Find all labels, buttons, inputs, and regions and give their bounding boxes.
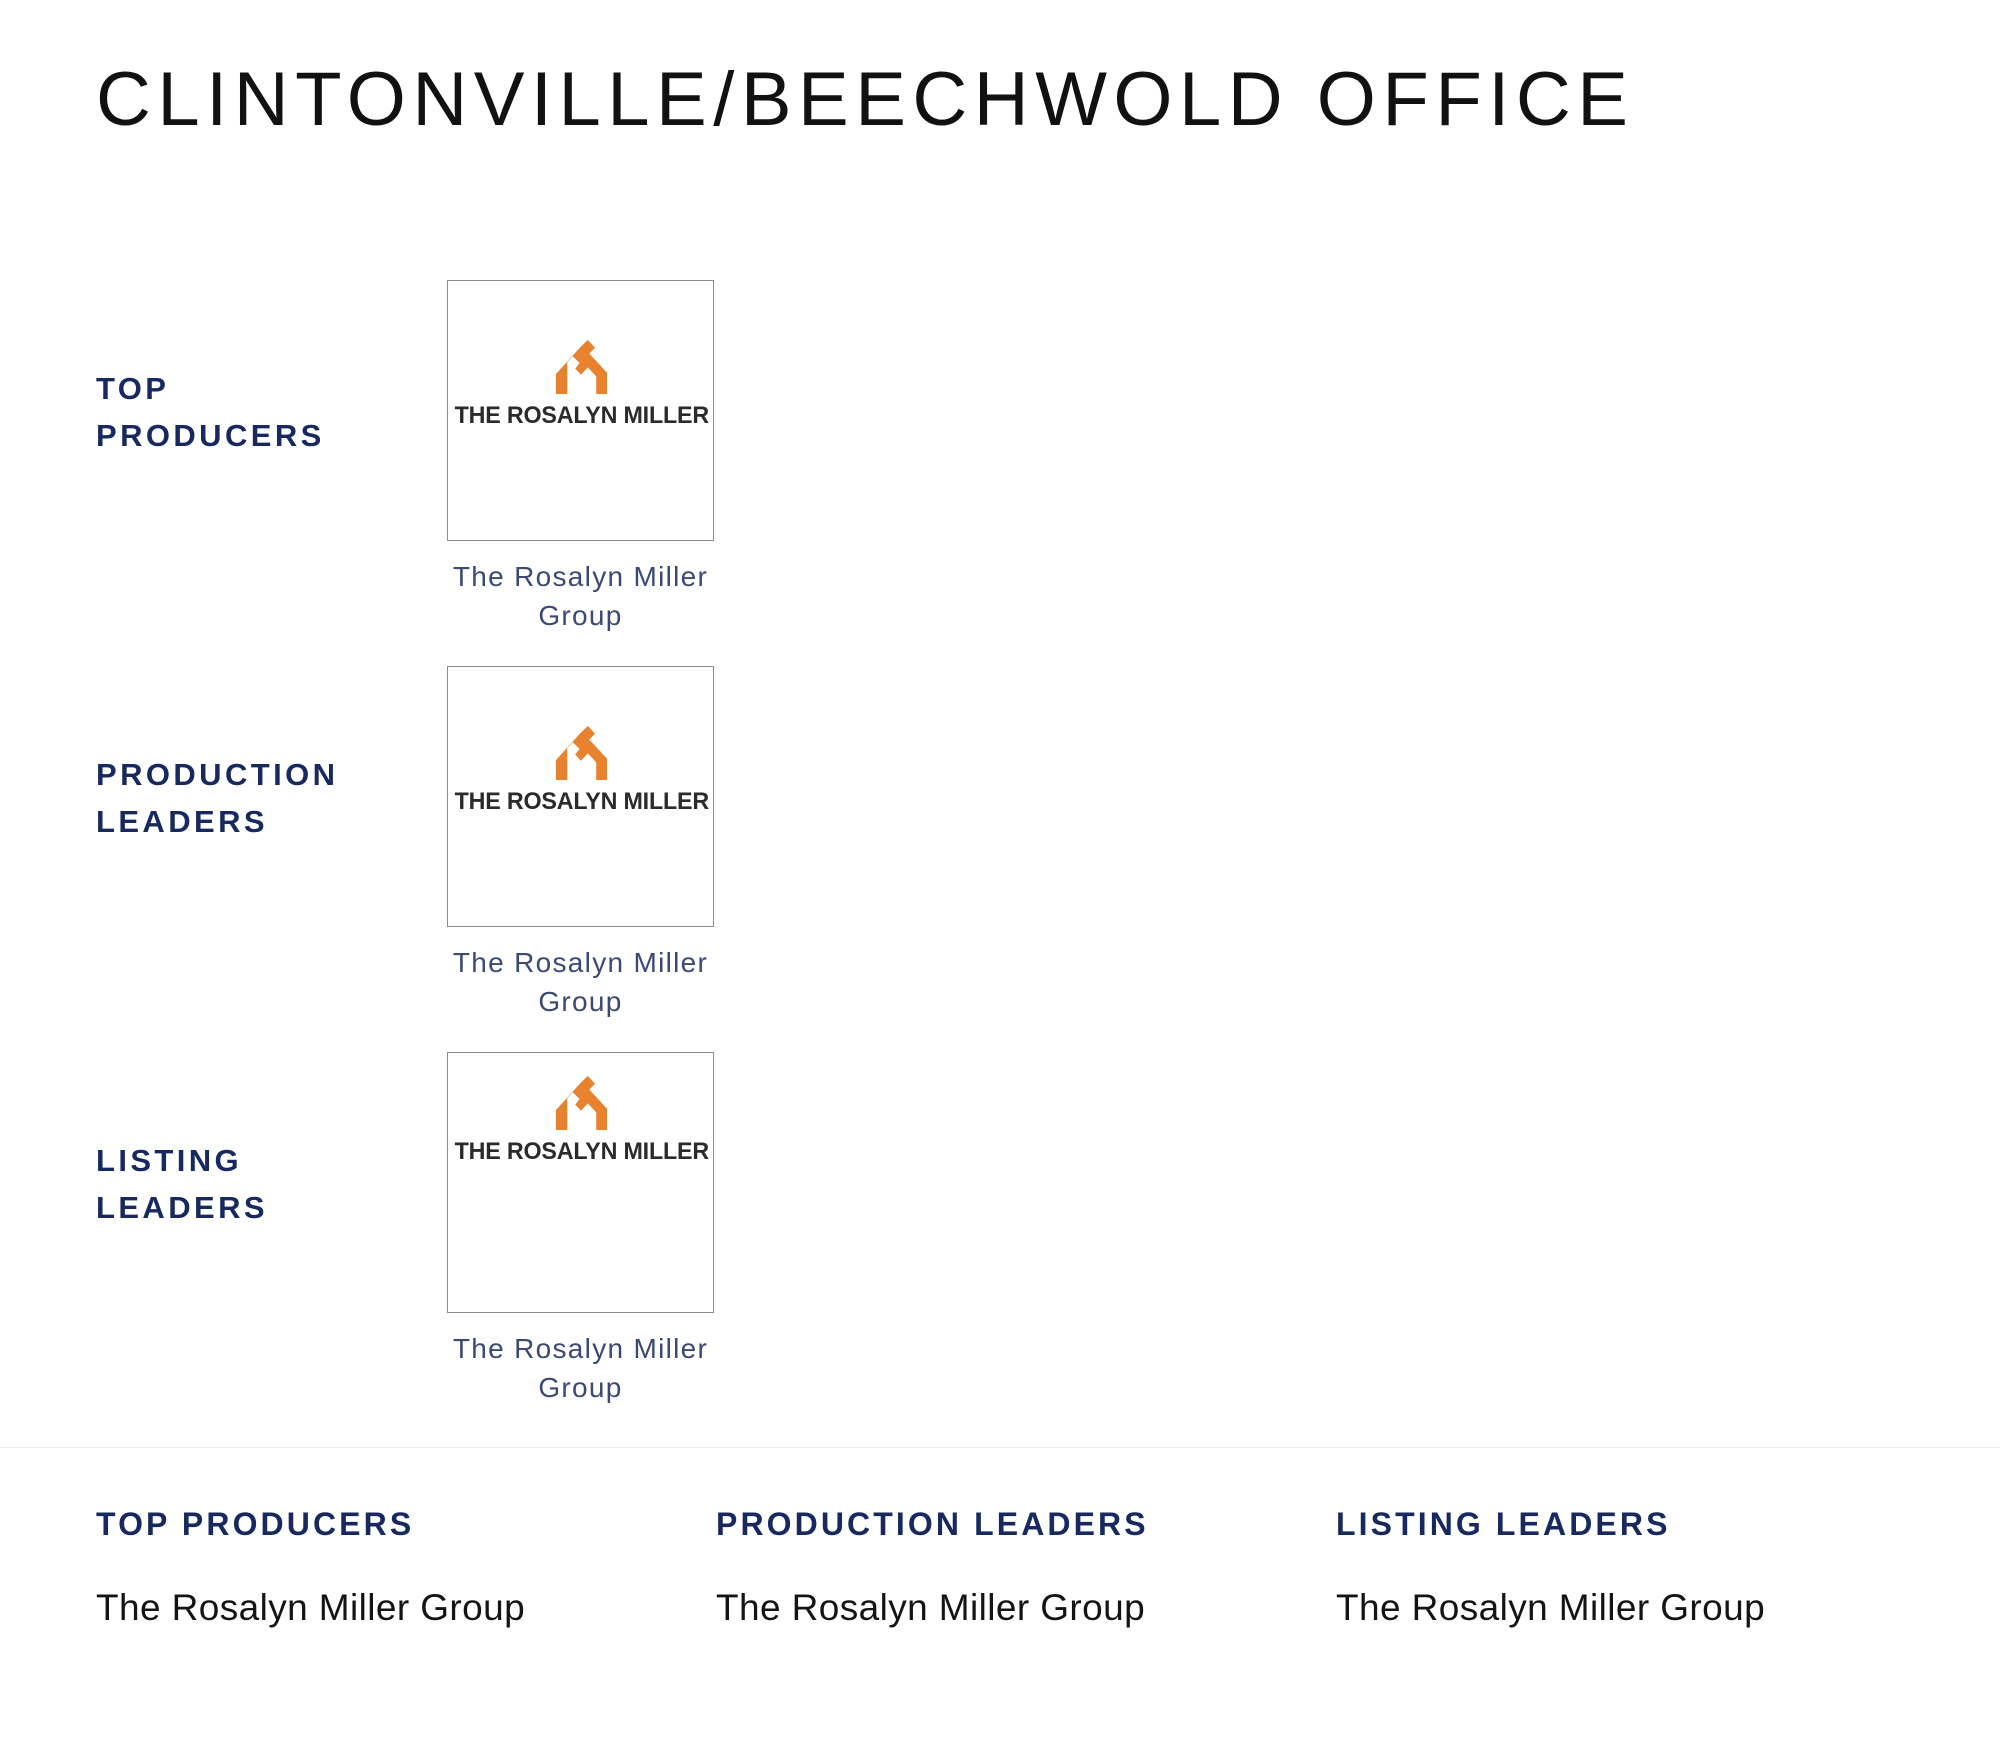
award-row-label-line1: PRODUCTION [96, 751, 426, 798]
logo-content: THE ROSALYN MILLER GROUP [448, 339, 713, 430]
summary-column: LISTING LEADERS The Rosalyn Miller Group [1336, 1508, 1936, 1629]
summary-column: PRODUCTION LEADERS The Rosalyn Miller Gr… [716, 1508, 1336, 1629]
page-title: CLINTONVILLE/BEECHWOLD OFFICE [96, 62, 1634, 138]
logo-wordmark: THE ROSALYN MILLER GROUP [455, 1138, 707, 1166]
summary-name: The Rosalyn Miller Group [96, 1588, 716, 1629]
award-row-label-line1: LISTING [96, 1137, 426, 1184]
award-row-label-line2: LEADERS [96, 1184, 426, 1231]
award-row-label-line1: TOP [96, 365, 426, 412]
summary-name: The Rosalyn Miller Group [716, 1588, 1336, 1629]
summary-column: TOP PRODUCERS The Rosalyn Miller Group [96, 1508, 716, 1629]
summary-name: The Rosalyn Miller Group [1336, 1588, 1936, 1629]
award-row-caption: The Rosalyn Miller Group [447, 944, 714, 1021]
award-row-label-line2: LEADERS [96, 798, 426, 845]
logo-card[interactable]: THE ROSALYN MILLER GROUP [447, 666, 714, 927]
summary-heading: TOP PRODUCERS [96, 1508, 716, 1540]
award-row-label: LISTING LEADERS [96, 1137, 426, 1231]
award-row-caption: The Rosalyn Miller Group [447, 558, 714, 635]
award-rows-section: TOP PRODUCERS THE ROSALYN MILLER GROUP T… [0, 270, 2000, 1428]
summary-section: TOP PRODUCERS The Rosalyn Miller Group P… [96, 1508, 1956, 1629]
award-row: LISTING LEADERS THE ROSALYN MILLER GROUP… [0, 1042, 2000, 1428]
award-row: TOP PRODUCERS THE ROSALYN MILLER GROUP T… [0, 270, 2000, 656]
award-row: PRODUCTION LEADERS THE ROSALYN MILLER GR… [0, 656, 2000, 1042]
logo-content: THE ROSALYN MILLER GROUP [448, 1075, 713, 1166]
house-roof-icon [550, 1075, 612, 1131]
logo-wordmark: THE ROSALYN MILLER GROUP [455, 788, 707, 816]
award-row-label-line2: PRODUCERS [96, 412, 426, 459]
summary-heading: LISTING LEADERS [1336, 1508, 1936, 1540]
award-row-caption: The Rosalyn Miller Group [447, 1330, 714, 1407]
summary-heading: PRODUCTION LEADERS [716, 1508, 1336, 1540]
house-roof-icon [550, 725, 612, 781]
award-row-label: PRODUCTION LEADERS [96, 751, 426, 845]
logo-card[interactable]: THE ROSALYN MILLER GROUP [447, 1052, 714, 1313]
logo-card[interactable]: THE ROSALYN MILLER GROUP [447, 280, 714, 541]
section-divider [0, 1447, 2000, 1448]
award-row-label: TOP PRODUCERS [96, 365, 426, 459]
logo-wordmark: THE ROSALYN MILLER GROUP [455, 402, 707, 430]
house-roof-icon [550, 339, 612, 395]
logo-content: THE ROSALYN MILLER GROUP [448, 725, 713, 816]
